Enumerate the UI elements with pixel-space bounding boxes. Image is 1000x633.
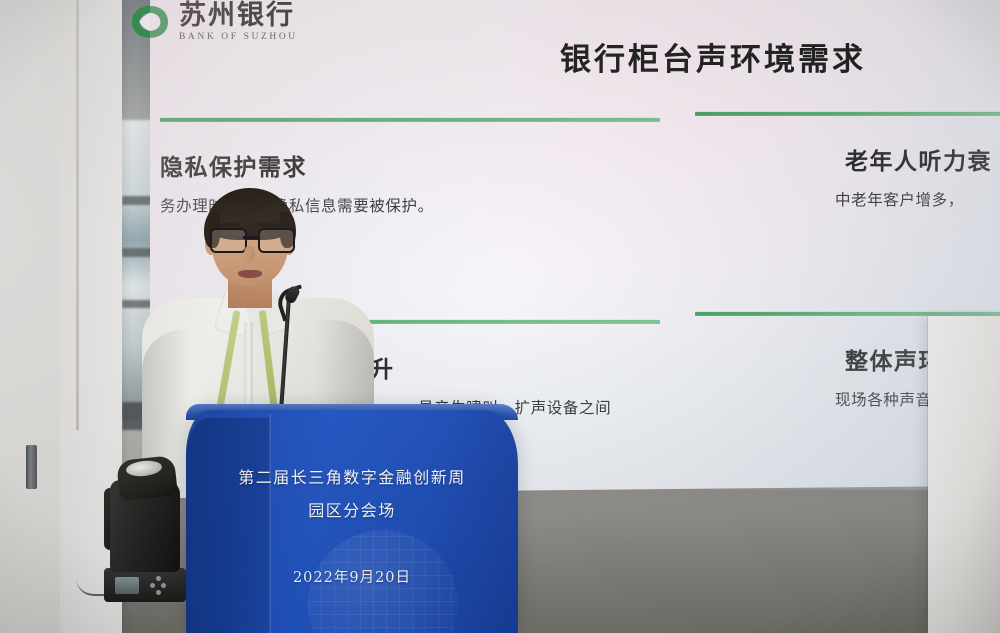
moving-head-stage-light-icon xyxy=(104,432,186,602)
glasses-lens-left xyxy=(210,228,247,253)
brand-name-en: BANK OF SUZHOU xyxy=(179,33,298,43)
mouth xyxy=(238,270,262,278)
stage-light-button xyxy=(156,576,161,581)
suzhou-bank-logo-icon xyxy=(130,4,170,40)
stage-light-button xyxy=(161,583,166,588)
stage-light-base xyxy=(104,568,186,602)
presentation-photo: 苏州银行 BANK OF SUZHOU 银行柜台声环境需求 隐私保护需求 务办理… xyxy=(0,0,1000,633)
card-title: 隐私保护需求 xyxy=(160,148,660,182)
card-body: 中老年客户增多， xyxy=(835,188,1000,210)
podium-date: 2022年9月20日 xyxy=(186,566,518,587)
stage-light-display xyxy=(115,577,139,594)
left-wall-seam xyxy=(76,0,79,430)
slide-card-elderly-hearing: 老年人听力衰 中老年客户增多， xyxy=(695,112,1000,210)
door-handle xyxy=(26,445,37,489)
podium: 第二届长三角数字金融创新周 园区分会场 2022年9月20日 xyxy=(186,410,518,633)
podium-event-title: 第二届长三角数字金融创新周 园区分会场 xyxy=(186,464,518,521)
brand-name-cn: 苏州银行 xyxy=(179,2,298,29)
nose xyxy=(244,246,255,263)
stage-light-button xyxy=(156,590,161,595)
card-accent-rule xyxy=(695,112,1000,116)
podium-side-panel xyxy=(186,418,270,633)
glasses-lens-right xyxy=(258,228,295,253)
card-accent-rule xyxy=(160,118,660,122)
podium-title-line-2: 园区分会场 xyxy=(186,497,518,521)
card-title: 老年人听力衰 xyxy=(845,142,1000,176)
brand-lockup: 苏州银行 BANK OF SUZHOU xyxy=(130,2,298,43)
podium-seam xyxy=(269,414,271,633)
slide-title: 银行柜台声环境需求 xyxy=(560,34,866,79)
right-pillar xyxy=(928,316,1000,633)
podium-title-line-1: 第二届长三角数字金融创新周 xyxy=(186,464,518,488)
glasses-bridge xyxy=(243,236,258,239)
stage-light-button xyxy=(150,583,155,588)
